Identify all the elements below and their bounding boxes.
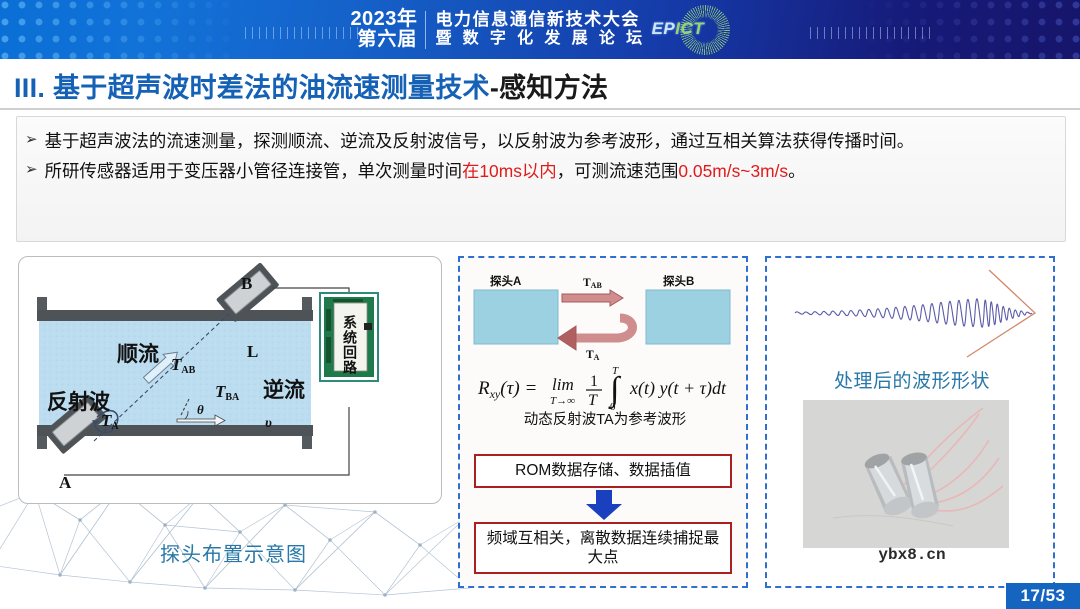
bullet-segment: 所研传感器适用于变压器小管径连接管，单次测量时间 [45, 161, 462, 181]
formula-rendering: Rxy(τ) = lim T→∞ 1 T ∫ T 0 x(t) y(t + τ)… [460, 362, 750, 412]
processed-waveform-panel: 处理后的波形形状 [765, 256, 1055, 588]
conference-banner: 2023年 第六届 电力信息通信新技术大会 暨 数 字 化 发 展 论 坛 EP… [0, 0, 1080, 59]
correlation-method-panel: 探头A 探头B TAB TA Rxy(τ) = lim T→∞ 1 T ∫ [458, 256, 748, 588]
left-panel-caption: 探头布置示意图 [160, 538, 307, 567]
banner-edition: 第六届 [357, 30, 417, 50]
label-probe-b: B [241, 274, 252, 293]
bullet-segment: 。 [788, 161, 805, 181]
bullet-highlight-time: 在10ms以内 [462, 161, 557, 181]
slide-title-secondary: -感知方法 [490, 73, 609, 103]
label-downstream: 顺流 [117, 342, 159, 366]
bullet-segment: ，可测流速范围 [557, 161, 679, 181]
right-panel-caption: 处理后的波形形状 [767, 366, 1057, 393]
svg-text:lim: lim [552, 375, 574, 394]
label-t-ab-mid: TAB [583, 277, 602, 290]
label-theta: θ [197, 402, 204, 417]
arrow-return-curve [574, 318, 633, 338]
watermark-text: ybx8.cn [767, 546, 1057, 564]
epict-text-b: ICT [675, 19, 704, 38]
title-underline-rule [0, 108, 1080, 110]
label-length-l: L [247, 342, 258, 361]
bullet-summary-box: ➢ 基于超声波法的流速测量，探测顺流、逆流及反射波信号，以反射波为参考波形，通过… [16, 116, 1066, 242]
flow-box-rom-storage: ROM数据存储、数据插值 [474, 454, 732, 488]
slide-title-primary: III. 基于超声波时差法的油流速测量技术 [14, 73, 490, 103]
bullet-arrow-icon: ➢ [25, 127, 38, 153]
processed-waveform-chart [767, 260, 1057, 366]
pipe-flow-diagram: B A 顺流 逆流 反射波 TAB TBA TA L θ υ 系统回路 [19, 257, 443, 505]
probe-a-label: 探头A [490, 274, 521, 288]
flow-box-freq-correlation: 频域互相关，离散数据连续捕捉最大点 [474, 522, 732, 574]
svg-text:x(t) y(t + τ)dt: x(t) y(t + τ)dt [629, 378, 727, 399]
label-upstream: 逆流 [263, 378, 305, 402]
banner-title-block: 电力信息通信新技术大会 暨 数 字 化 发 展 论 坛 [426, 11, 645, 47]
label-system-circuit: 系统回路 [342, 314, 358, 375]
epict-text-a: EP [652, 19, 676, 38]
label-t-a-mid: TA [586, 349, 600, 360]
epict-wordmark: EPICT [652, 19, 705, 39]
probe-b-label: 探头B [663, 274, 694, 288]
pipe-wall-top [37, 310, 313, 321]
formula-note: 动态反射波TA为参考波形 [460, 408, 750, 429]
bullet-item: ➢ 所研传感器适用于变压器小管径连接管，单次测量时间在10ms以内，可测流速范围… [25, 157, 1053, 185]
probe-b-block [646, 290, 730, 344]
banner-year-block: 2023年 第六届 [350, 9, 425, 50]
probe-pair-illustration: 探头A 探头B TAB TA [460, 268, 750, 360]
bullet-item: ➢ 基于超声波法的流速测量，探测顺流、逆流及反射波信号，以反射波为参考波形，通过… [25, 127, 1053, 155]
arrow-return-head [558, 326, 576, 350]
arrow-forward-icon [562, 290, 623, 306]
svg-text:T: T [588, 392, 598, 409]
banner-title-line2: 暨 数 字 化 发 展 论 坛 [435, 30, 645, 48]
probe-a-block [474, 290, 558, 344]
banner-title-line1: 电力信息通信新技术大会 [435, 11, 640, 30]
waveform-trace [795, 299, 1032, 327]
transducer-photo [803, 400, 1009, 548]
label-probe-a: A [59, 473, 72, 492]
label-velocity: υ [265, 416, 272, 431]
bullet-highlight-range: 0.05m/s~3m/s [678, 161, 788, 181]
svg-text:Rxy(τ) =: Rxy(τ) = [477, 378, 537, 401]
svg-text:T→∞: T→∞ [550, 395, 575, 407]
bullet-segment: 基于超声波法的流速测量，探测顺流、逆流及反射波信号，以反射波为参考波形，通过互相… [45, 131, 915, 151]
down-arrow-icon [584, 490, 624, 520]
bullet-arrow-icon: ➢ [25, 157, 38, 183]
epict-logo: EPICT [652, 4, 730, 56]
transducer-photo-content [803, 400, 1009, 548]
svg-text:1: 1 [590, 373, 598, 390]
bullet-text: 基于超声波法的流速测量，探测顺流、逆流及反射波信号，以反射波为参考波形，通过互相… [45, 127, 1053, 155]
banner-content: 2023年 第六届 电力信息通信新技术大会 暨 数 字 化 发 展 论 坛 EP… [0, 0, 1080, 59]
bullet-text: 所研传感器适用于变压器小管径连接管，单次测量时间在10ms以内，可测流速范围0.… [45, 157, 1053, 185]
page-number-badge: 17/53 [1006, 583, 1080, 609]
banner-year: 2023年 [350, 9, 417, 30]
waveform-envelope [967, 270, 1035, 357]
probe-layout-diagram-panel: B A 顺流 逆流 反射波 TAB TBA TA L θ υ 系统回路 [18, 256, 442, 504]
slide-root: 2023年 第六届 电力信息通信新技术大会 暨 数 字 化 发 展 论 坛 EP… [0, 0, 1080, 609]
slide-title: III. 基于超声波时差法的油流速测量技术-感知方法 [14, 66, 608, 105]
svg-text:T: T [612, 365, 619, 377]
